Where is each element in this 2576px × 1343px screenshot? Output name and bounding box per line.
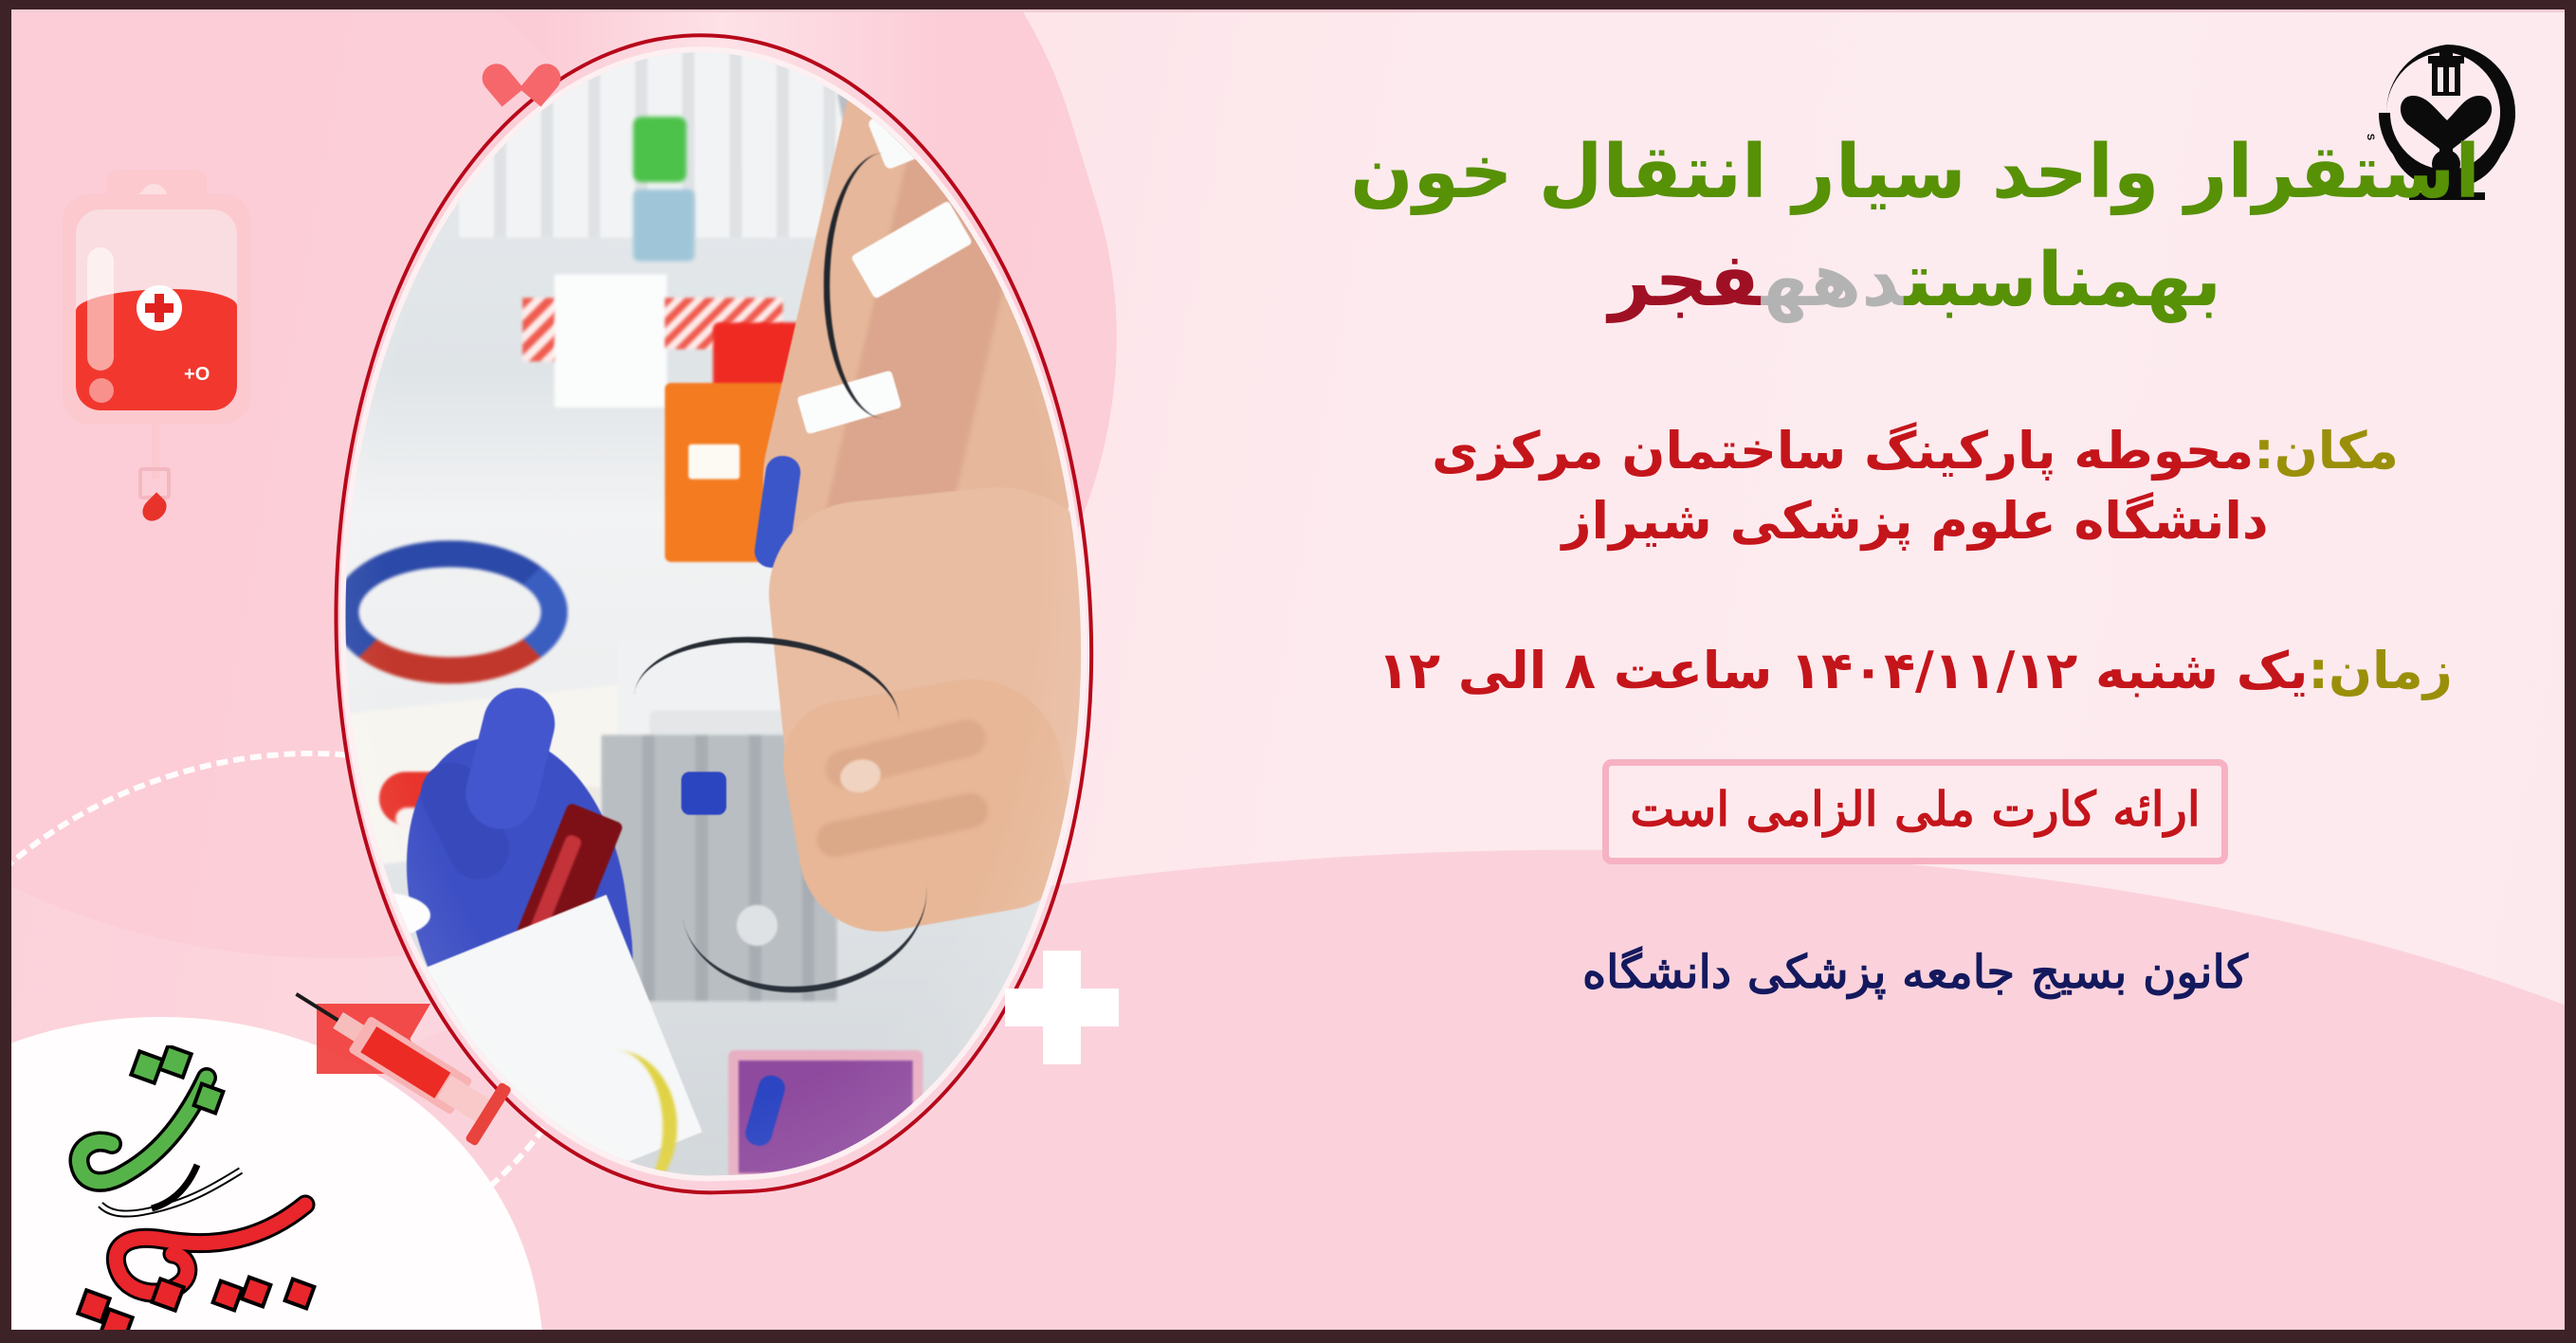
place-value-line-1: محوطه پارکینگ ساختمان مرکزی: [1432, 421, 2254, 481]
national-id-note: ارائه کارت ملی الزامی است: [1602, 759, 2228, 864]
time-value: یک شنبه ۱۴۰۴/۱۱/۱۲ ساعت ۸ الی ۱۲: [1378, 641, 2308, 700]
blood-type-label: O+: [184, 365, 210, 384]
poster-frame: O+: [0, 0, 2576, 1343]
time-label: زمان:: [2308, 641, 2452, 700]
page-title: استقرار واحد سیار انتقال خون بهمناسبتدهه…: [1304, 126, 2527, 329]
headline-line-2-part-2: دهه: [1762, 238, 1905, 323]
heart-icon: [499, 58, 548, 101]
time-block: زمان:یک شنبه ۱۴۰۴/۱۱/۱۲ ساعت ۸ الی ۱۲: [1304, 641, 2527, 700]
place-block: مکان:محوطه پارکینگ ساختمان مرکزی دانشگاه…: [1304, 416, 2527, 557]
headline-line-2: بهمناسبتدههفجر: [1304, 234, 2527, 329]
organizer-label: کانون بسیج جامعه پزشکی دانشگاه: [1304, 946, 2527, 999]
poster-canvas: O+: [11, 9, 2565, 1330]
medical-cross-icon: [1005, 951, 1119, 1064]
headline-line-2-part-3: فجر: [1609, 238, 1762, 323]
headline-line-2-part-1: بهمناسبت: [1904, 238, 2221, 323]
blood-bag-icon: O+: [47, 154, 265, 467]
headline-line-1: استقرار واحد سیار انتقال خون: [1304, 126, 2527, 221]
red-cross-badge-icon: [137, 285, 182, 331]
place-value-line-2: دانشگاه علوم پزشکی شیراز: [1304, 486, 2527, 557]
place-label: مکان:: [2254, 421, 2399, 481]
poster-content: استقرار واحد سیار انتقال خون بهمناسبتدهه…: [1304, 126, 2527, 999]
svg-text:SHIRAZ UNIVERSITY OF MEDICAL S: SHIRAZ UNIVERSITY OF MEDICAL SCIENCES: [2354, 26, 2377, 142]
place-line-1: مکان:محوطه پارکینگ ساختمان مرکزی: [1304, 416, 2527, 487]
basij-jame-pezeshki-logo: [21, 1045, 334, 1330]
